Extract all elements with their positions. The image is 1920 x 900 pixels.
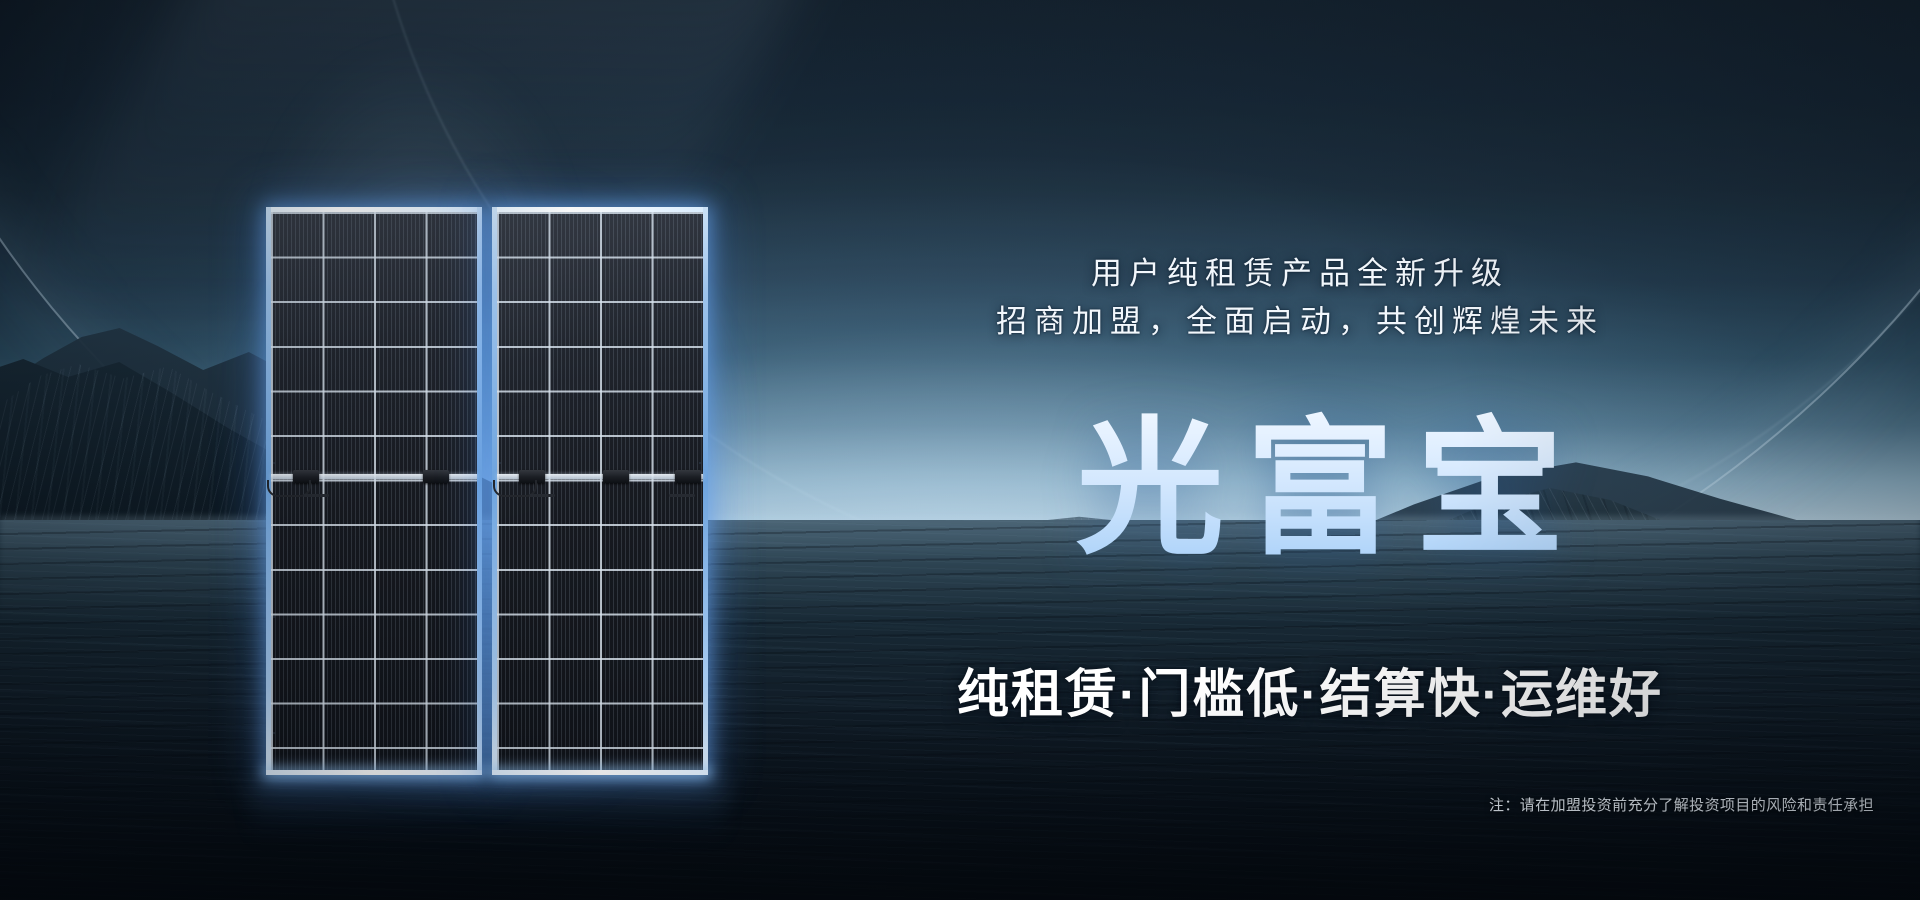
frame-screw bbox=[499, 616, 501, 618]
solar-panel-right bbox=[492, 207, 708, 775]
tagline: 纯租赁·门槛低·结算快·运维好 bbox=[860, 658, 1760, 732]
panel-cable-stub bbox=[529, 494, 555, 497]
panel-cable-stub bbox=[669, 494, 695, 497]
junction-box bbox=[675, 470, 701, 483]
headline-block: 用户纯租赁产品全新升级 招商加盟，全面启动，共创辉煌未来 bbox=[940, 250, 1660, 346]
frame-screw bbox=[699, 616, 701, 618]
frame-screw bbox=[699, 308, 701, 310]
panel-frame-top-highlight bbox=[271, 207, 477, 212]
frame-screw bbox=[699, 462, 701, 464]
promo-banner: 用户纯租赁产品全新升级 招商加盟，全面启动，共创辉煌未来 光富宝 纯租赁·门槛低… bbox=[0, 0, 1920, 900]
junction-box bbox=[423, 470, 449, 483]
frame-screw bbox=[499, 462, 501, 464]
panel-frame-top-highlight bbox=[497, 207, 703, 212]
panel-cable-stub bbox=[303, 494, 329, 497]
junction-box bbox=[603, 470, 629, 483]
solar-panel-left bbox=[266, 207, 482, 775]
frame-screw bbox=[273, 732, 275, 734]
frame-screw bbox=[273, 308, 275, 310]
frame-screw bbox=[273, 462, 275, 464]
disclaimer-note: 注：请在加盟投资前充分了解投资项目的风险和责任承担 bbox=[1489, 795, 1874, 817]
headline-primary: 用户纯租赁产品全新升级 bbox=[940, 250, 1660, 298]
panel-frame-bottom-highlight bbox=[266, 770, 482, 775]
frame-screw bbox=[273, 616, 275, 618]
panel-frame-bottom-highlight bbox=[492, 770, 708, 775]
headline-secondary: 招商加盟，全面启动，共创辉煌未来 bbox=[940, 298, 1660, 346]
frame-screw bbox=[499, 308, 501, 310]
solar-panel-group bbox=[266, 207, 710, 775]
brand-title: 光富宝 bbox=[1000, 410, 1640, 570]
